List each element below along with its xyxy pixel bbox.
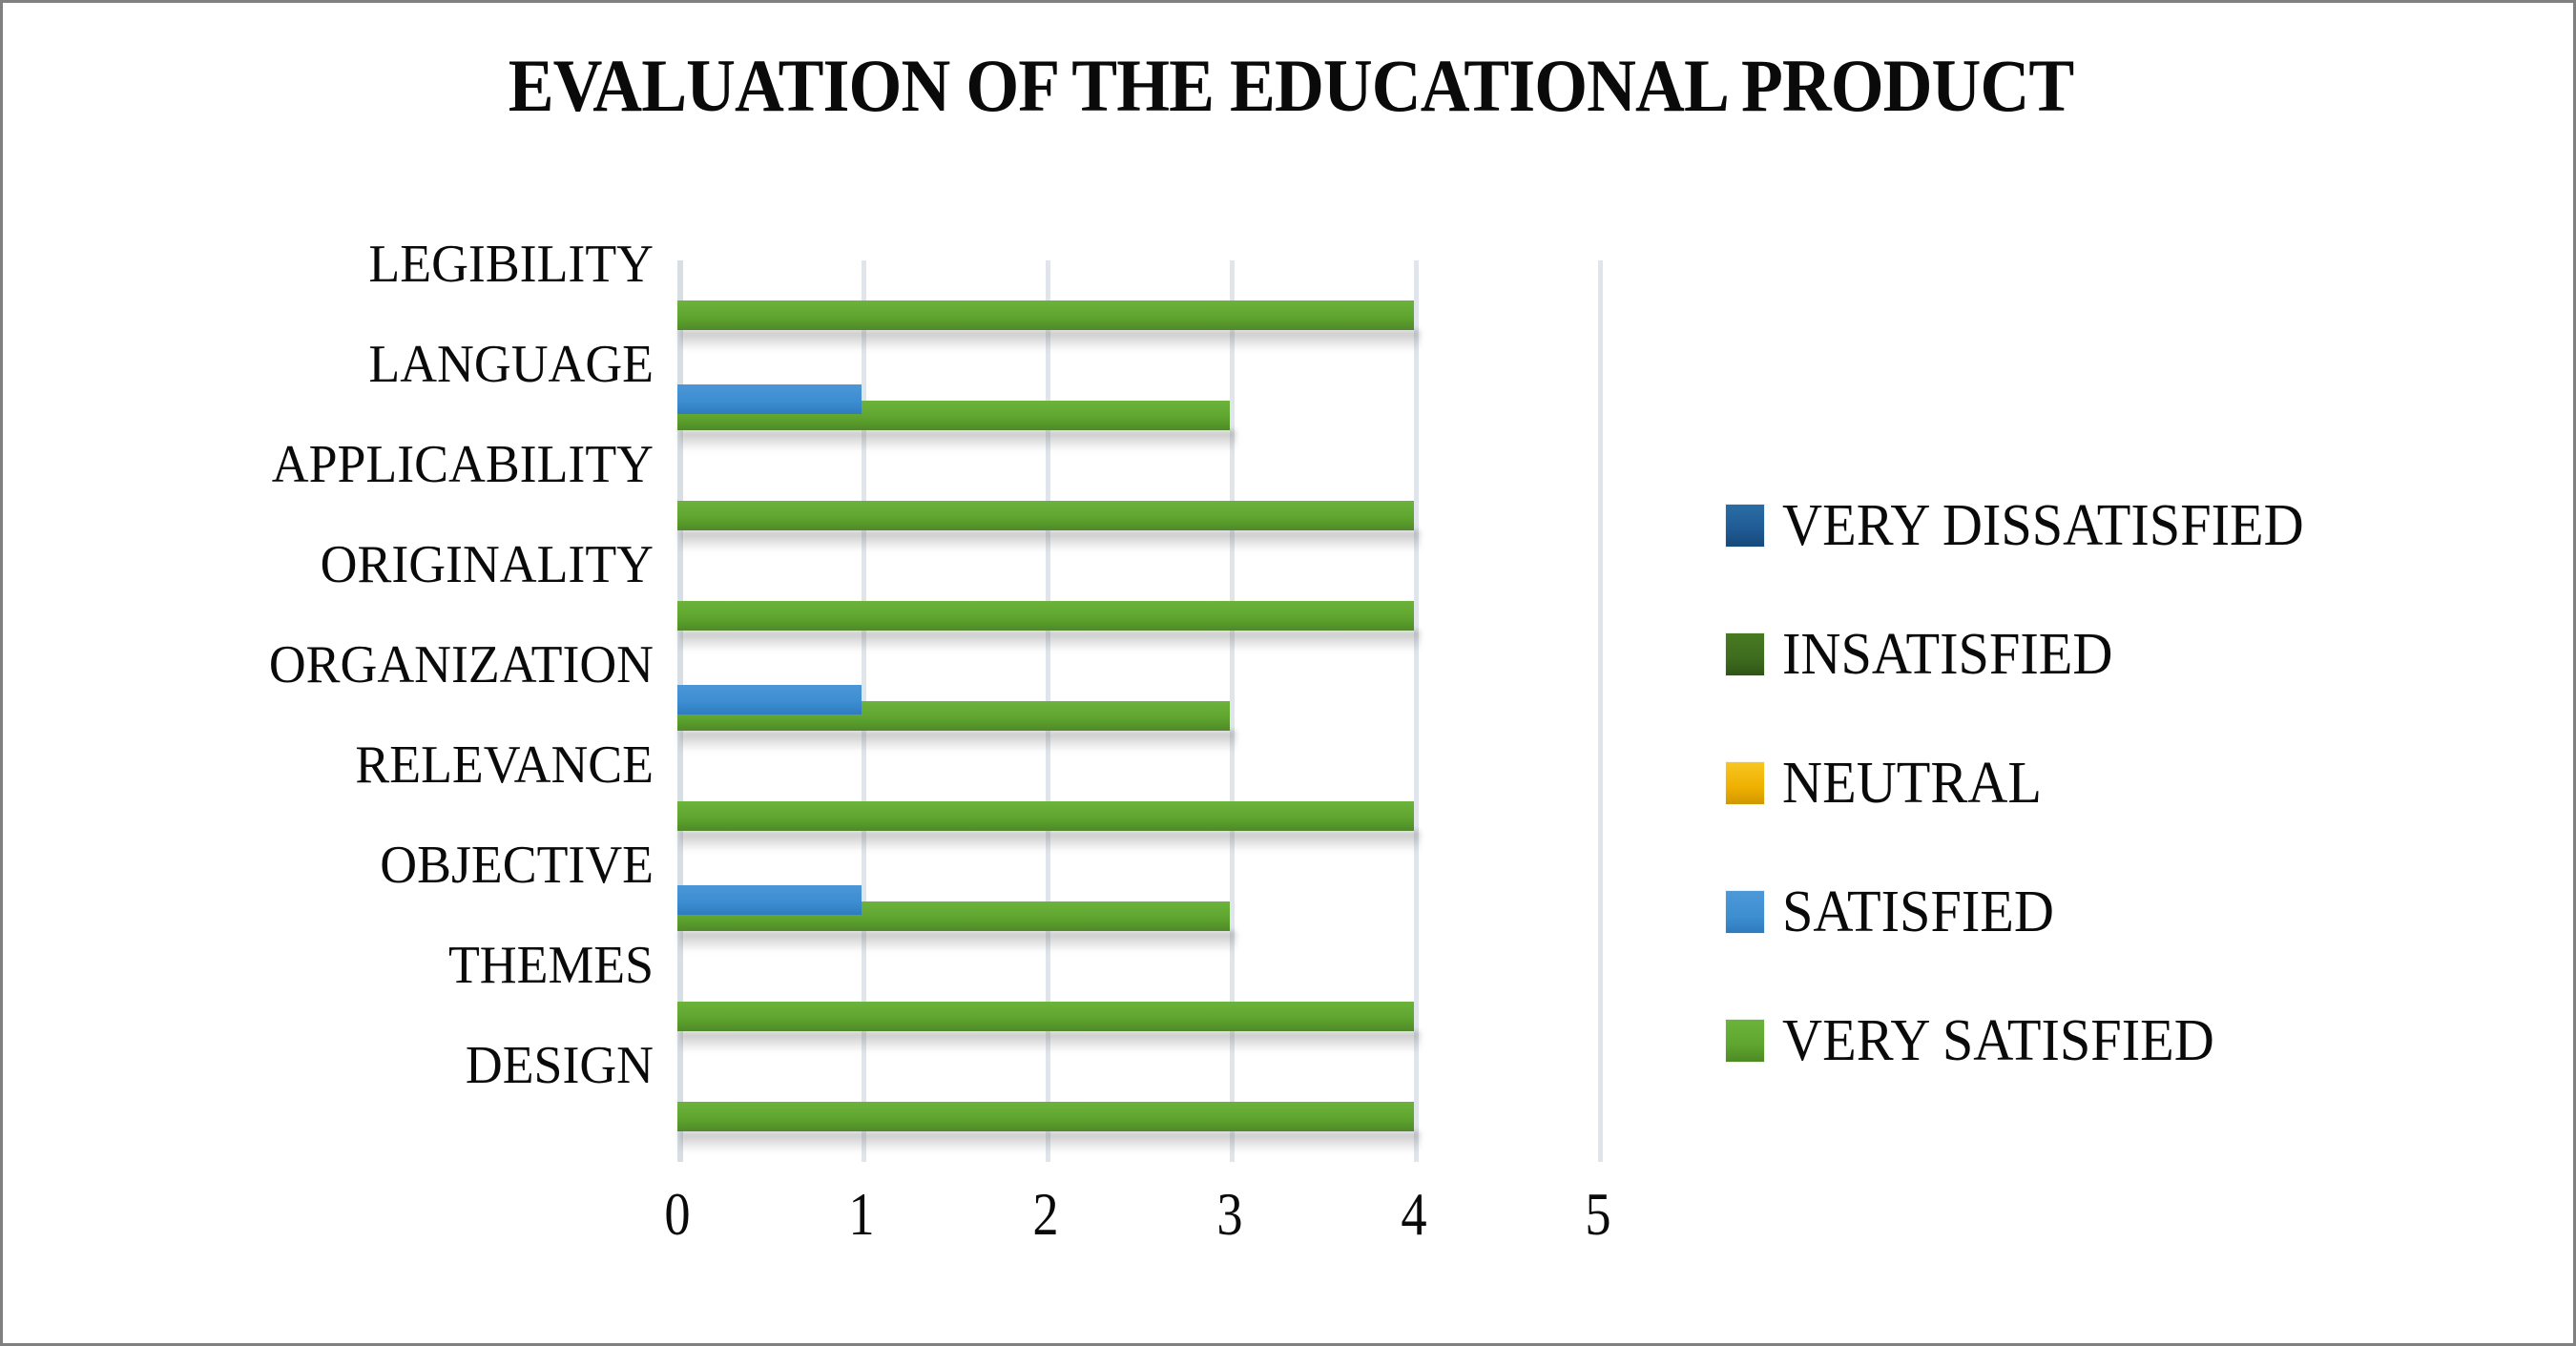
bar-satisfied <box>677 885 862 915</box>
legend-item[interactable]: SATISFIED <box>1725 847 2545 976</box>
category-label: ORGANIZATION <box>31 638 654 692</box>
gridline-x-5 <box>1598 260 1603 1162</box>
legend-swatch-icon <box>1725 890 1765 934</box>
bar-verysatisfied <box>677 501 1414 530</box>
bar-row <box>677 772 1598 872</box>
category-axis-labels: LEGIBILITYLANGUAGEAPPLICABILITYORIGINALI… <box>3 241 671 1167</box>
bar-verysatisfied <box>677 601 1414 631</box>
x-axis-tick-labels: 012345 <box>677 1181 1598 1267</box>
x-tick-label: 5 <box>1566 1181 1631 1248</box>
legend-swatch-icon <box>1725 761 1765 805</box>
legend-label: NEUTRAL <box>1782 754 2042 813</box>
legend-item[interactable]: NEUTRAL <box>1725 718 2545 847</box>
x-tick-label: 1 <box>829 1181 894 1248</box>
legend-item[interactable]: VERY SATISFIED <box>1725 976 2545 1105</box>
x-tick-label: 0 <box>645 1181 710 1248</box>
bar-row <box>677 371 1598 471</box>
x-tick-label: 4 <box>1381 1181 1446 1248</box>
bar-row <box>677 271 1598 371</box>
category-label: THEMES <box>31 939 654 992</box>
bar-row <box>677 872 1598 972</box>
category-label: LEGIBILITY <box>31 238 654 291</box>
x-tick-label: 2 <box>1013 1181 1078 1248</box>
x-tick-label: 3 <box>1197 1181 1262 1248</box>
legend-swatch-icon <box>1725 1019 1765 1063</box>
bar-verysatisfied <box>677 801 1414 831</box>
legend-swatch-icon <box>1725 632 1765 676</box>
legend-item[interactable]: VERY DISSATISFIED <box>1725 461 2545 590</box>
legend-item[interactable]: INSATISFIED <box>1725 590 2545 718</box>
chart-legend: VERY DISSATISFIEDINSATISFIEDNEUTRALSATIS… <box>1725 461 2545 1105</box>
bar-row <box>677 672 1598 772</box>
bar-verysatisfied <box>677 300 1414 330</box>
bar-satisfied <box>677 384 862 414</box>
category-label: OBJECTIVE <box>31 839 654 892</box>
legend-label: INSATISFIED <box>1782 625 2112 684</box>
bars-layer <box>677 260 1598 1162</box>
category-label: RELEVANCE <box>31 738 654 792</box>
bar-row <box>677 571 1598 672</box>
legend-label: SATISFIED <box>1782 882 2054 942</box>
chart-title: EVALUATION OF THE EDUCATIONAL PRODUCT <box>106 43 2476 129</box>
legend-label: VERY DISSATISFIED <box>1782 496 2304 555</box>
bar-row <box>677 972 1598 1072</box>
bar-satisfied <box>677 685 862 714</box>
legend-label: VERY SATISFIED <box>1782 1011 2214 1070</box>
category-label: ORIGINALITY <box>31 538 654 591</box>
bar-row <box>677 1072 1598 1172</box>
plot-wrapper: LEGIBILITYLANGUAGEAPPLICABILITYORIGINALI… <box>3 241 1682 1291</box>
chart-frame: EVALUATION OF THE EDUCATIONAL PRODUCT LE… <box>0 0 2576 1346</box>
legend-swatch-icon <box>1725 504 1765 548</box>
bar-row <box>677 471 1598 571</box>
category-label: DESIGN <box>31 1039 654 1092</box>
bar-verysatisfied <box>677 1102 1414 1131</box>
bar-verysatisfied <box>677 1002 1414 1031</box>
category-label: APPLICABILITY <box>31 438 654 491</box>
category-label: LANGUAGE <box>31 338 654 391</box>
